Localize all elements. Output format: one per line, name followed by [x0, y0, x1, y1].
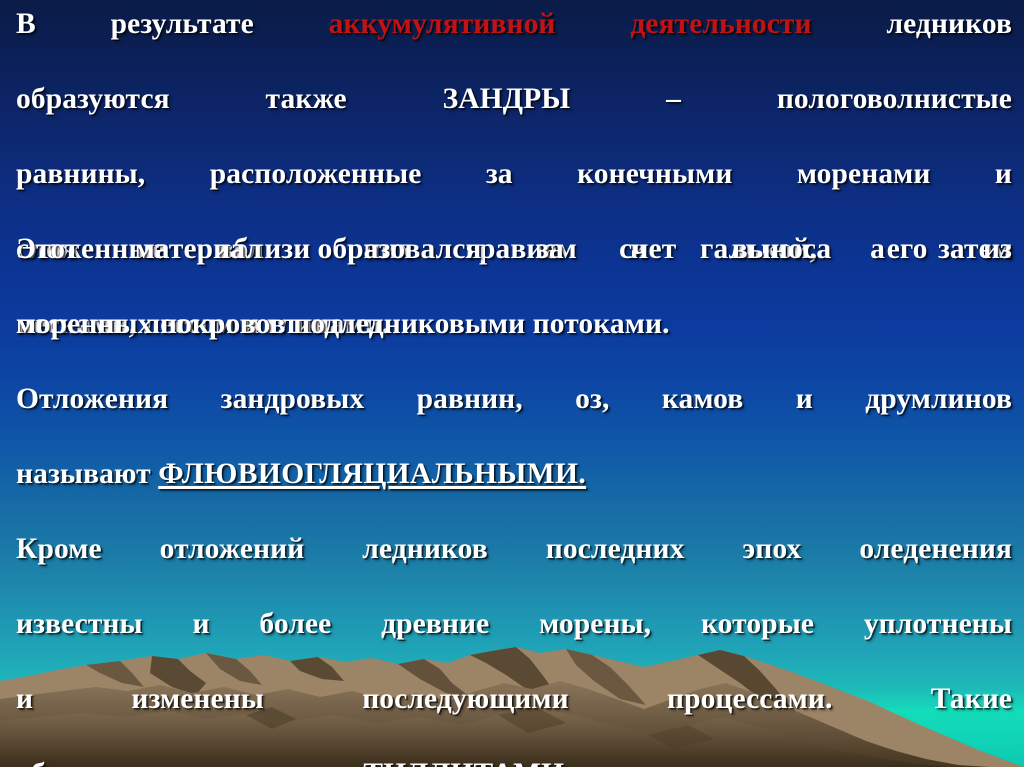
text-run: В результате — [16, 8, 329, 40]
text-run: называют — [16, 458, 158, 490]
slide-canvas: В результате аккумулятивной деятельности… — [0, 0, 1024, 767]
text-run-underlined: ФЛЮВИОГЛЯЦИАЛЬНЫМИ. — [158, 458, 586, 490]
text-line: образуются также ЗАНДРЫ – пологоволнисты… — [16, 81, 1012, 156]
text-run-accent: аккумулятивной деятельности — [329, 8, 812, 40]
text-line: и изменены последующими процессами. Таки… — [16, 681, 1012, 756]
text-line: В результате аккумулятивной деятельности… — [16, 6, 1012, 81]
text-line: называют ФЛЮВИОГЛЯЦИАЛЬНЫМИ. — [16, 456, 1012, 494]
text-line: моренных покровов подледниковыми потокам… — [16, 306, 1012, 344]
paragraph-2: Этот материал образовался за счет выноса… — [16, 231, 1012, 344]
paragraph-3: Отложения зандровых равнин, оз, камов и … — [16, 381, 1012, 494]
text-line: Отложения зандровых равнин, оз, камов и … — [16, 381, 1012, 456]
text-run: ледников — [812, 8, 1012, 40]
text-line: равнины, расположенные за конечными море… — [16, 156, 1012, 231]
text-layer: В результате аккумулятивной деятельности… — [0, 0, 1024, 767]
paragraph-4: Кроме отложений ледников последних эпох … — [16, 531, 1012, 767]
text-line: известны и более древние морены, которые… — [16, 606, 1012, 681]
text-line: Кроме отложений ледников последних эпох … — [16, 531, 1012, 606]
text-line: образования называются ТИЛЛИТАМИ. — [16, 756, 1012, 767]
text-line: Этот материал образовался за счет выноса… — [16, 231, 1012, 306]
